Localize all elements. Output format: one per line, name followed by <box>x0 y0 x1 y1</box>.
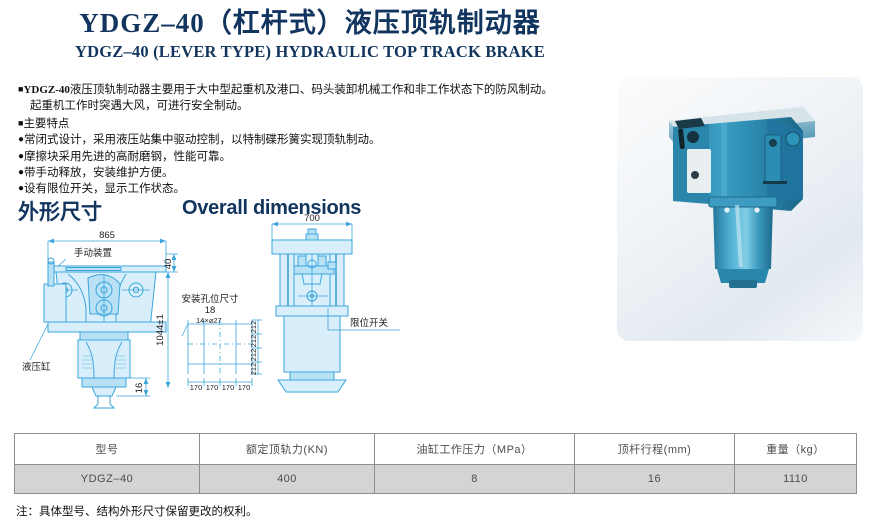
part-brake-shoe <box>82 378 126 387</box>
dim-label-16: 16 <box>134 383 145 394</box>
description-text-1: 液压顶轨制动器主要用于大中型起重机及港口、码头装卸机械工作和非工作状态下的防风制… <box>70 84 553 96</box>
dim-label-865: 865 <box>99 230 115 241</box>
dim-horizontal-2: 170 <box>206 383 219 392</box>
part-cylinder-foot <box>290 372 334 380</box>
leader-hydraulic-cylinder <box>30 324 48 360</box>
dim-horizontal-4: 170 <box>238 383 251 392</box>
label-manual-device: 手动装置 <box>74 247 112 259</box>
table-header-model: 型号 <box>15 434 200 465</box>
description-text-5: 摩擦块采用先进的高耐磨钢，性能可靠。 <box>24 151 231 163</box>
description-text-2: 起重机工作时突遇大风，可进行安全制动。 <box>30 100 249 112</box>
description-text-7: 设有限位开关，显示工作状态。 <box>24 183 185 195</box>
dim-label-1044: 1044±1 <box>155 314 166 346</box>
model-code-inline: YDGZ-40 <box>23 84 69 96</box>
part-hydraulic-cylinder <box>44 284 66 322</box>
photo-part-bolt-right <box>769 139 777 147</box>
part-neck <box>80 332 128 340</box>
description-line-1: ■YDGZ-40液压顶轨制动器主要用于大中型起重机及港口、码头装卸机械工作和非工… <box>18 81 610 98</box>
photo-part-slot <box>763 181 787 184</box>
product-photo <box>617 77 863 341</box>
label-hydraulic-cylinder: 液压缸 <box>22 361 51 373</box>
photo-part-limit-switch-box <box>687 149 711 193</box>
hole-pattern-title: 安装孔位尺寸 <box>181 293 239 305</box>
description-text-6: 带手动释放，安装维护方便。 <box>24 167 174 179</box>
description-text-3: 主要特点 <box>23 118 69 130</box>
photo-part-switch-knob <box>691 171 699 179</box>
part-rail-profile <box>94 396 114 408</box>
table-header-rated-force: 额定顶轨力(KN) <box>200 434 375 465</box>
page-title-en: YDGZ–40 (LEVER TYPE) HYDRAULIC TOP TRACK… <box>0 42 620 62</box>
description-line-5: ●摩擦块采用先进的高耐磨钢，性能可靠。 <box>18 149 610 165</box>
description-block: ■YDGZ-40液压顶轨制动器主要用于大中型起重机及港口、码头装卸机械工作和非工… <box>18 81 610 198</box>
datasheet-page: YDGZ–40（杠杆式）液压顶轨制动器 YDGZ–40 (LEVER TYPE)… <box>0 0 870 526</box>
table-cell-rated-force: 400 <box>200 465 375 494</box>
part-base-flange <box>48 322 166 332</box>
page-title-cn: YDGZ–40（杠杆式）液压顶轨制动器 <box>0 8 620 39</box>
photo-part-cyl-bolt-2 <box>754 207 759 212</box>
spec-table: 型号 额定顶轨力(KN) 油缸工作压力（MPa） 顶杆行程(mm) 重量（kg）… <box>14 433 857 494</box>
title-block: YDGZ–40（杠杆式）液压顶轨制动器 YDGZ–40 (LEVER TYPE)… <box>0 8 620 62</box>
dim-horizontal-1: 170 <box>190 383 203 392</box>
description-line-7: ●设有限位开关，显示工作状态。 <box>18 181 610 197</box>
dim-vertical-4: 212 <box>249 363 258 376</box>
dim-vertical-1: 212 <box>249 321 258 334</box>
footer-note: 注：具体型号、结构外形尺寸保留更改的权利。 <box>16 503 258 519</box>
table-cell-weight: 1110 <box>735 465 857 494</box>
table-header-pressure: 油缸工作压力（MPa） <box>375 434 575 465</box>
photo-part-piston-rod <box>729 280 757 288</box>
photo-part-cylinder <box>713 203 773 269</box>
description-line-4: ●常闭式设计，采用液压站集中驱动控制，以特制碟形簧实现顶轨制动。 <box>18 132 610 148</box>
leader-hole-spec <box>182 324 188 336</box>
label-limit-switch: 限位开关 <box>350 317 389 329</box>
photo-part-cylinder-collar <box>709 197 777 207</box>
table-header-weight: 重量（kg） <box>735 434 857 465</box>
dim-label-40: 40 <box>163 259 174 270</box>
photo-part-cyl-bolt-1 <box>724 207 729 212</box>
part-rail-head <box>92 387 116 396</box>
hole-pattern-subtitle: 18 <box>205 305 216 316</box>
table-header-row: 型号 额定顶轨力(KN) 油缸工作压力（MPa） 顶杆行程(mm) 重量（kg） <box>15 434 857 465</box>
description-line-2: 起重机工作时突遇大风，可进行安全制动。 <box>18 98 610 114</box>
table-row: YDGZ–40 400 8 16 1110 <box>15 465 857 494</box>
description-line-6: ●带手动释放，安装维护方便。 <box>18 165 610 181</box>
table-header-stroke: 顶杆行程(mm) <box>575 434 735 465</box>
drawing-hole-pattern: 安装孔位尺寸 18 14×⌀27 <box>180 292 280 397</box>
part-spring-housing <box>78 340 130 378</box>
photo-part-rib <box>721 123 727 203</box>
part-cylinder-body <box>284 316 340 372</box>
dim-vertical-3: 212 <box>249 349 258 362</box>
description-line-3: ■主要特点 <box>18 115 610 132</box>
photo-part-port <box>687 131 699 143</box>
part-top-rail <box>66 268 121 271</box>
table-cell-pressure: 8 <box>375 465 575 494</box>
hole-grid <box>188 320 252 374</box>
part-cylinder-rod <box>48 262 54 286</box>
part-base-plate <box>276 306 348 316</box>
table-cell-stroke: 16 <box>575 465 735 494</box>
section-heading-cn: 外形尺寸 <box>18 196 102 226</box>
dim-horizontal-3: 170 <box>222 383 235 392</box>
part-top-cap <box>272 240 352 254</box>
part-top-nut <box>308 229 316 234</box>
part-side-pad <box>328 262 336 269</box>
part-bottom-flange <box>278 380 346 392</box>
photo-part-round-boss <box>786 132 800 146</box>
description-text-4: 常闭式设计，采用液压站集中驱动控制，以特制碟形簧实现顶轨制动。 <box>24 134 381 146</box>
hole-spec-label: 14×⌀27 <box>196 316 222 325</box>
table-cell-model: YDGZ–40 <box>15 465 200 494</box>
part-top-boss <box>306 234 318 240</box>
dim-vertical-2: 212 <box>249 335 258 348</box>
drawing-front-view: 865 手动装置 40 <box>8 228 203 413</box>
dim-label-700: 700 <box>304 213 320 224</box>
